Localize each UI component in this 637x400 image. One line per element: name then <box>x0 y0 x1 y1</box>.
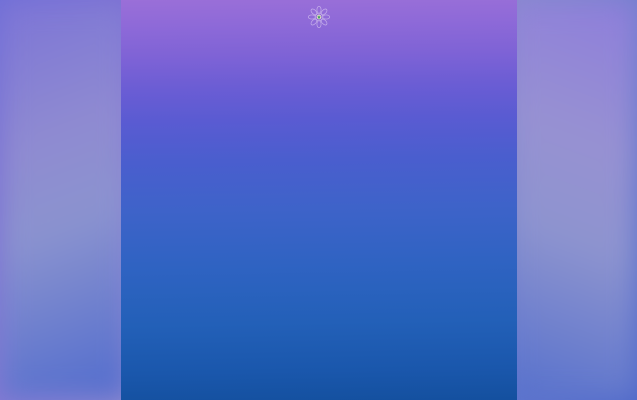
azerbaijan-ministry-emblem-icon <box>306 4 332 30</box>
ministry-logo-block <box>121 4 517 31</box>
backdrop-blur-left <box>0 0 130 400</box>
poster-image <box>121 0 517 400</box>
backdrop-blur-right <box>507 0 637 400</box>
math-symbols-background <box>121 0 517 400</box>
image-viewer <box>0 0 637 400</box>
